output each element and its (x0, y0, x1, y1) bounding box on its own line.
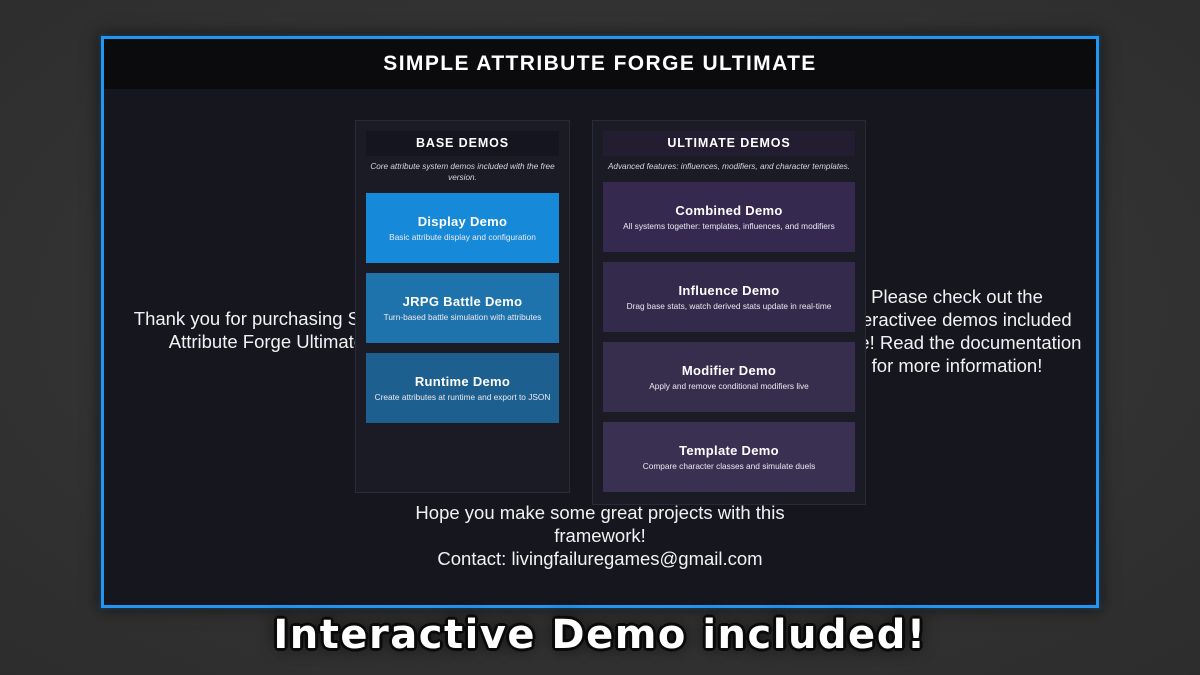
demo-card-subtitle: Apply and remove conditional modifiers l… (643, 381, 815, 391)
demo-card-modifier-demo[interactable]: Modifier Demo Apply and remove condition… (603, 342, 855, 412)
footer-line-2: framework! (104, 524, 1096, 547)
demo-card-title: Modifier Demo (682, 363, 776, 378)
demo-card-runtime-demo[interactable]: Runtime Demo Create attributes at runtim… (366, 353, 559, 423)
demo-panels: BASE DEMOS Core attribute system demos i… (355, 120, 866, 505)
panel-ultimate-demos-subtitle: Advanced features: influences, modifiers… (603, 161, 855, 172)
footer-note: Hope you make some great projects with t… (104, 501, 1096, 570)
demo-card-subtitle: Compare character classes and simulate d… (637, 461, 821, 471)
demo-card-jrpg-battle-demo[interactable]: JRPG Battle Demo Turn-based battle simul… (366, 273, 559, 343)
demo-card-influence-demo[interactable]: Influence Demo Drag base stats, watch de… (603, 262, 855, 332)
demo-card-template-demo[interactable]: Template Demo Compare character classes … (603, 422, 855, 492)
bottom-banner-text: Interactive Demo included! (273, 612, 926, 658)
window-body: Thank you for purchasing Simple Attribut… (104, 89, 1096, 605)
page-title: SIMPLE ATTRIBUTE FORGE ULTIMATE (383, 52, 816, 76)
app-window: SIMPLE ATTRIBUTE FORGE ULTIMATE Thank yo… (101, 36, 1099, 608)
demo-card-title: Display Demo (418, 214, 508, 229)
title-bar: SIMPLE ATTRIBUTE FORGE ULTIMATE (104, 39, 1096, 89)
demo-card-title: Combined Demo (675, 203, 782, 218)
demo-card-combined-demo[interactable]: Combined Demo All systems together: temp… (603, 182, 855, 252)
demo-card-title: JRPG Battle Demo (403, 294, 523, 309)
screenshot-canvas: SIMPLE ATTRIBUTE FORGE ULTIMATE Thank yo… (0, 0, 1200, 675)
panel-ultimate-demos: ULTIMATE DEMOS Advanced features: influe… (592, 120, 866, 505)
footer-line-1: Hope you make some great projects with t… (104, 501, 1096, 524)
demo-card-title: Template Demo (679, 443, 779, 458)
bottom-banner: Interactive Demo included! (0, 612, 1200, 658)
demo-card-subtitle: Basic attribute display and configuratio… (383, 232, 542, 242)
demo-card-subtitle: Create attributes at runtime and export … (369, 392, 557, 402)
demo-card-title: Runtime Demo (415, 374, 510, 389)
demo-card-subtitle: Drag base stats, watch derived stats upd… (621, 301, 838, 311)
panel-ultimate-demos-header: ULTIMATE DEMOS (603, 131, 855, 156)
demo-card-subtitle: Turn-based battle simulation with attrib… (378, 312, 548, 322)
panel-base-demos-subtitle: Core attribute system demos included wit… (366, 161, 559, 183)
panel-base-demos: BASE DEMOS Core attribute system demos i… (355, 120, 570, 493)
documentation-note: Please check out the interactivee demos … (832, 285, 1082, 377)
demo-card-display-demo[interactable]: Display Demo Basic attribute display and… (366, 193, 559, 263)
demo-card-subtitle: All systems together: templates, influen… (617, 221, 841, 231)
panel-base-demos-header: BASE DEMOS (366, 131, 559, 156)
demo-card-title: Influence Demo (679, 283, 780, 298)
footer-contact: Contact: livingfailuregames@gmail.com (104, 547, 1096, 570)
